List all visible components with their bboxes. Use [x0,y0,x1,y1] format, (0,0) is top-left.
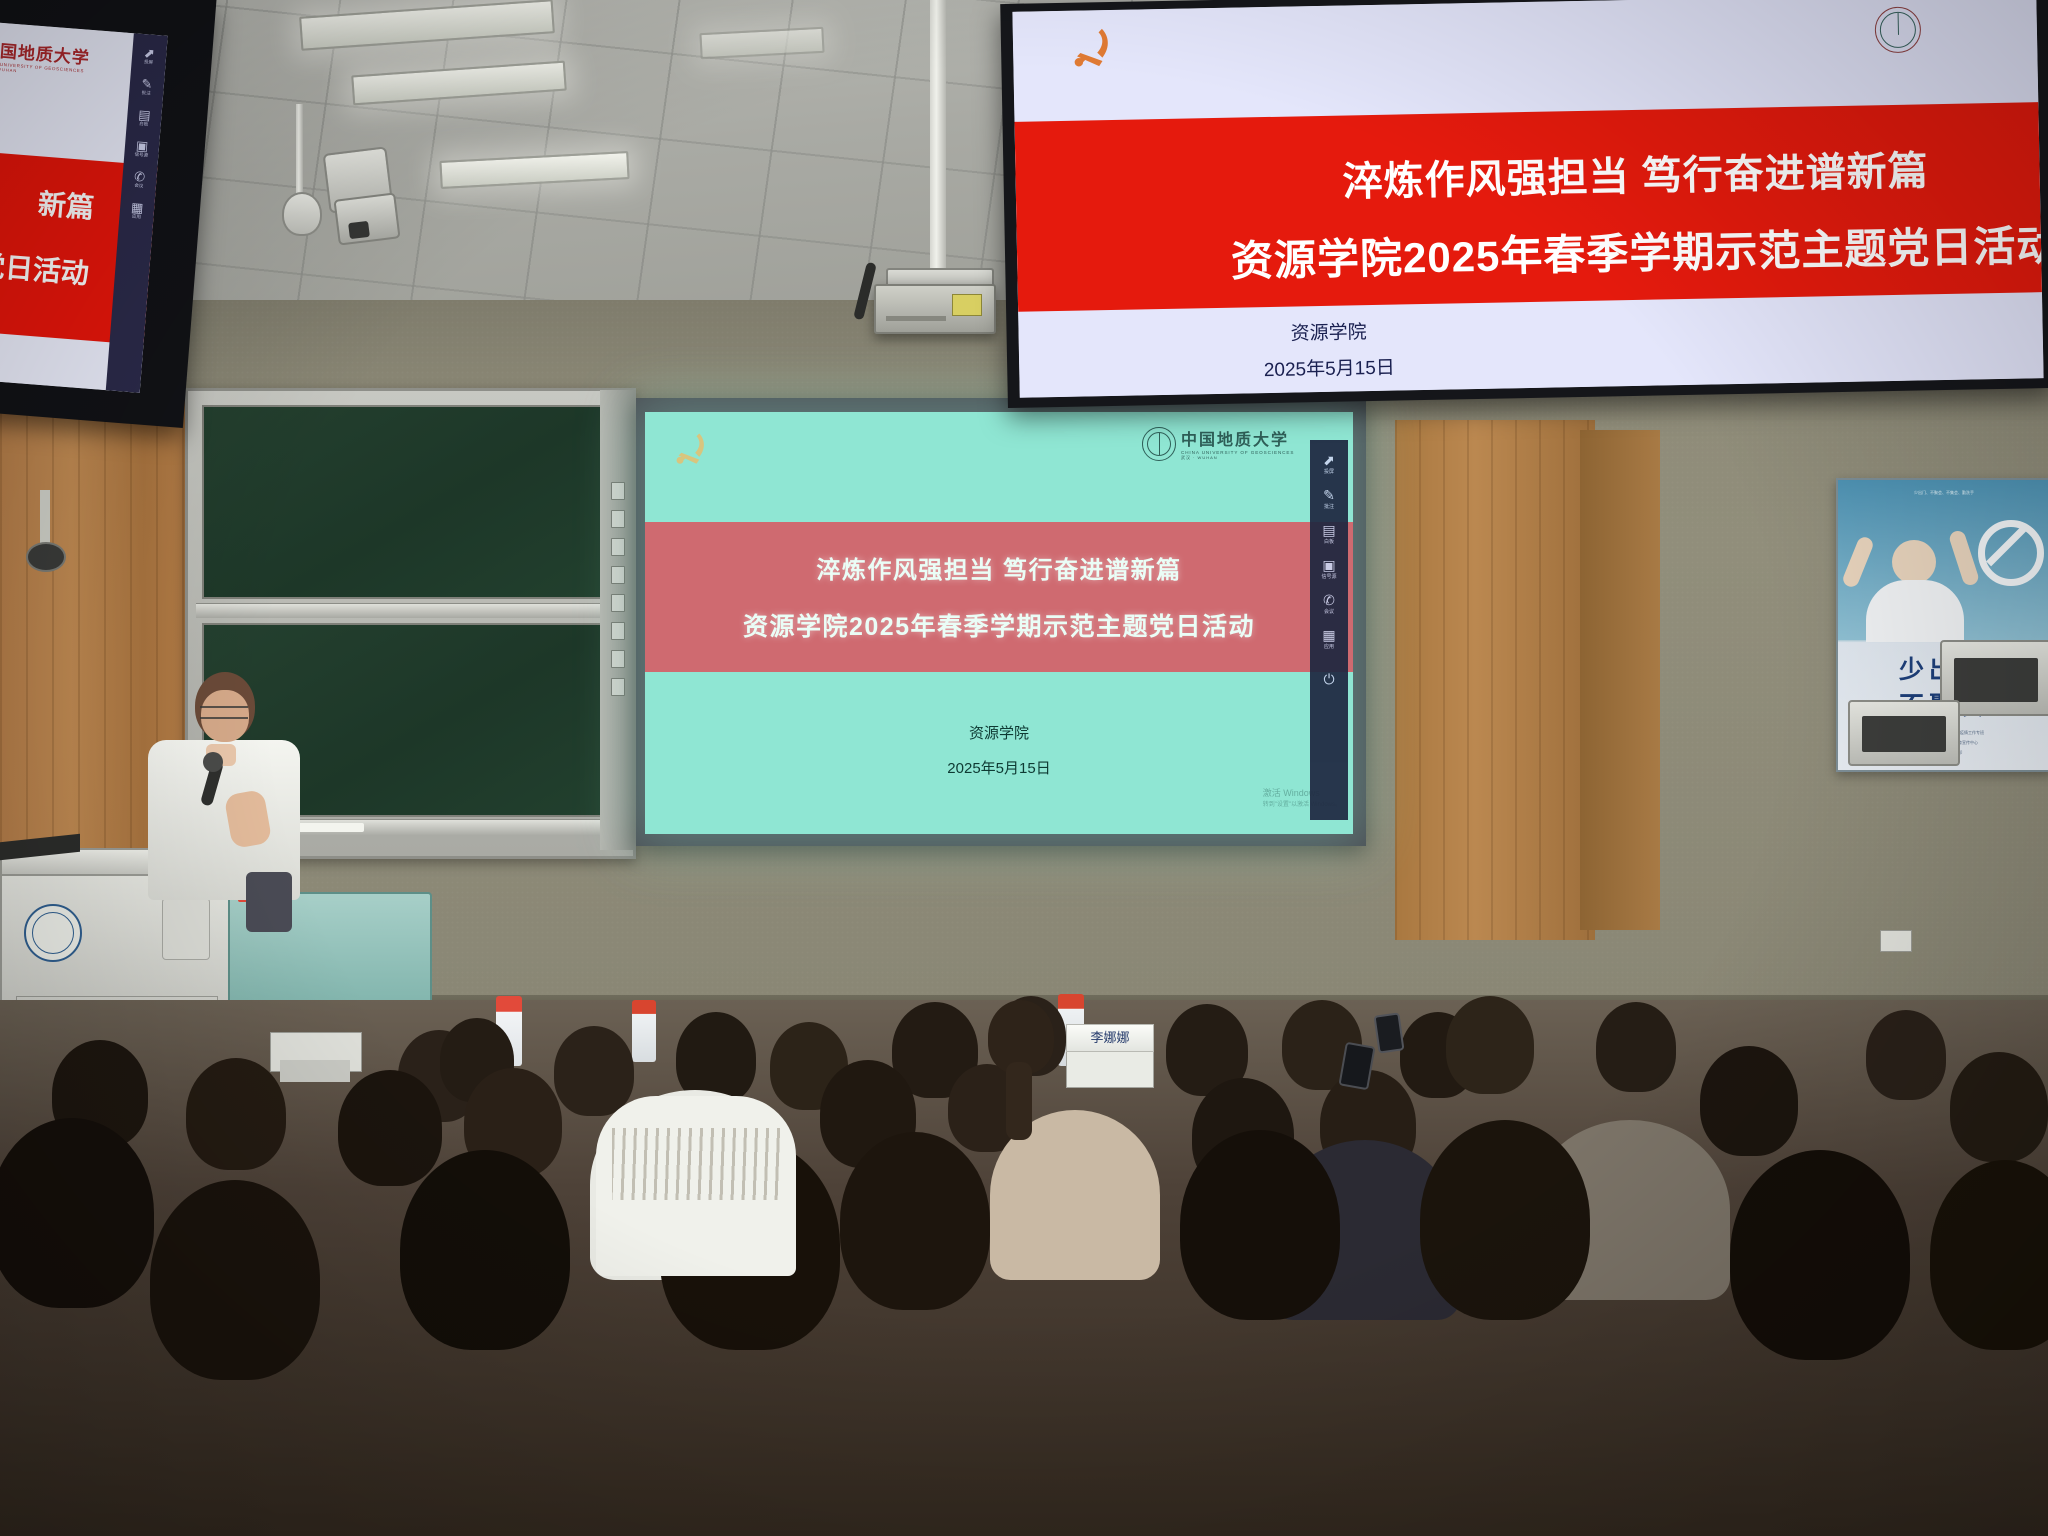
apps-icon: ▦ [120,200,155,216]
chalkboard-control-strip [600,390,634,850]
sidebar-item-whiteboard[interactable]: ▤ 白板 [127,107,162,129]
slide-footer-date: 2025年5月15日 [645,757,1353,778]
board-button[interactable] [611,482,625,500]
board-button[interactable] [611,538,625,556]
podium-university-seal-icon [24,904,82,962]
projector-vent [886,316,946,321]
projection-screen[interactable]: 中国地质大学 CHINA UNIVERSITY OF GEOSCIENCES 武… [645,412,1353,834]
ceiling-device-lens [348,221,370,239]
audience-head [554,1026,634,1116]
audience-head-front [400,1150,570,1350]
slide-title-line1: 淬炼作风强担当 笃行奋进谱新篇 [645,550,1353,585]
ac-vent [1862,716,1946,752]
screen-sidebar-toolbar[interactable]: ⬈ 投屏 ✎ 批注 ▤ 白板 ▣ 信号源 ✆ 会议 ▦ 应用 ⏻ [1310,440,1348,820]
university-logo: 中国地质大学 CHINA UNIVERSITY OF GEOSCIENCES 武… [1142,426,1294,461]
university-logo: 中国地质大学 CHINA UNIVERSITY OF GEOSCIENCES 武… [0,35,103,80]
board-button[interactable] [611,594,625,612]
audience-head [338,1070,442,1186]
projector-pole [930,0,946,272]
poster-header-note: 少出门、不聚会、不集会、勤洗手 [1848,490,2040,496]
board-button[interactable] [611,622,625,640]
university-seal-icon [1874,6,1921,53]
board-button[interactable] [611,678,625,696]
audience-head [1700,1046,1798,1156]
projector-label [952,294,982,316]
name-placard: 李娜娜 [1066,1024,1154,1052]
sidebar-label: 信号源 [134,152,148,158]
audience-head [186,1058,286,1170]
university-campus: 武汉 · WUHAN [1181,455,1294,461]
ceiling-device-body [333,192,400,245]
pencil-icon: ✎ [1310,488,1348,503]
pencil-icon: ✎ [129,76,164,92]
sidebar-label: 投屏 [144,59,153,65]
sidebar-item-apps[interactable]: ▦ 应用 [1310,628,1348,650]
power-icon: ⏻ [1310,672,1348,687]
wood-panel-right-grain [1395,420,1595,940]
audience-head-front [840,1132,990,1310]
phone-icon: ✆ [1310,593,1348,608]
water-bottle[interactable] [632,1000,656,1062]
sidebar-item-power[interactable]: ⏻ [1310,672,1348,687]
phone-icon: ✆ [122,169,157,185]
apps-icon: ▦ [1310,628,1348,643]
wall-ac-unit [1848,700,1960,766]
sidebar-item-annotate[interactable]: ✎ 批注 [129,76,164,98]
share-icon: ⬈ [1310,453,1348,468]
ceiling-speaker [282,192,322,236]
audience-head [1950,1052,2048,1162]
ac-vent [1954,658,2038,702]
presenter-glasses-icon [200,706,248,719]
slide-footer-org: 资源学院 [645,722,1353,743]
microphone-head [203,752,223,772]
sidebar-item-annotate[interactable]: ✎ 批注 [1310,488,1348,510]
tv-footer-org: 资源学院 [1018,312,1638,351]
whiteboard-icon: ▤ [127,107,162,123]
tv-title-band: 淬炼作风强担当 笃行奋进谱新篇 资源学院2025年春季学期示范主题党日活动 [1015,102,2042,312]
board-button[interactable] [611,650,625,668]
sidebar-item-signal-source[interactable]: ▣ 信号源 [124,138,159,160]
eraser[interactable] [298,823,364,832]
ceiling-projector [874,284,996,334]
smartphone[interactable] [1373,1012,1404,1053]
sidebar-item-apps[interactable]: ▦ 应用 [119,200,154,222]
slide-title-line2: 资源学院2025年春季学期示范主题党日活动 [645,607,1353,643]
poster-figure-head [1892,540,1936,584]
slide-title-band: 淬炼作风强担当 笃行奋进谱新篇 资源学院2025年春季学期示范主题党日活动 [645,522,1353,672]
presenter-trousers [246,872,292,932]
poster-figure-arm [1948,529,1981,587]
camera-mount [40,490,50,550]
sidebar-item-meeting[interactable]: ✆ 会议 [122,169,157,191]
wall-camera [26,542,66,572]
sidebar-label: 投屏 [1324,469,1334,475]
sidebar-item-share[interactable]: ⬈ 投屏 [1310,453,1348,475]
prohibition-icon [1978,520,2044,586]
sidebar-label: 应用 [132,214,141,220]
sidebar-label: 白板 [1324,539,1334,545]
university-logo [1874,6,1921,53]
sidebar-label: 会议 [134,183,143,189]
tv-display-right[interactable]: 淬炼作风强担当 笃行奋进谱新篇 资源学院2025年春季学期示范主题党日活动 资源… [1012,0,2043,398]
tv-display-left[interactable]: 中国地质大学 CHINA UNIVERSITY OF GEOSCIENCES 武… [0,21,168,393]
audience-head-front [1180,1130,1340,1320]
sidebar-label: 白板 [139,121,148,127]
poster-figure-arm [1841,535,1875,589]
board-button[interactable] [611,510,625,528]
audience-head [1446,996,1534,1094]
poster-figure-body [1866,580,1964,642]
sidebar-label: 会议 [1324,609,1334,615]
sidebar-item-share[interactable]: ⬈ 投屏 [131,45,166,67]
university-name-cn: 中国地质大学 [1181,426,1294,450]
tv-left-title-fragment1: 新篇 [0,177,96,227]
party-emblem-hammer-sickle-icon [1065,22,1120,77]
university-seal-icon [1142,427,1176,461]
speaker-rod [296,104,303,194]
chalkboard-panel-upper [202,405,614,599]
audience-head-front [1730,1150,1910,1360]
wall-outlet[interactable] [1880,930,1912,952]
wood-panel-far-right [1580,430,1660,930]
share-icon: ⬈ [132,45,167,61]
tv-right-slide: 淬炼作风强担当 笃行奋进谱新篇 资源学院2025年春季学期示范主题党日活动 资源… [1012,0,2043,398]
sidebar-item-signal-source[interactable]: ▣ 信号源 [1310,558,1348,580]
tv-title-line2: 资源学院2025年春季学期示范主题党日活动 [1045,208,2044,292]
sidebar-item-whiteboard[interactable]: ▤ 白板 [1310,523,1348,545]
audience-head-front [0,1118,154,1308]
signal-source-icon: ▣ [1310,558,1348,573]
sidebar-item-meeting[interactable]: ✆ 会议 [1310,593,1348,615]
audience-ponytail [1006,1062,1032,1140]
podium-speaker-grille [162,898,210,960]
signal-source-icon: ▣ [125,138,160,154]
sidebar-label: 批注 [1324,504,1334,510]
desk-surface [280,1060,350,1082]
whiteboard-icon: ▤ [1310,523,1348,538]
audience-head [1866,1010,1946,1100]
sidebar-label: 应用 [1324,644,1334,650]
chalkboard-rail [196,603,620,618]
party-emblem-hammer-sickle-icon [669,428,713,472]
sidebar-label: 批注 [142,90,151,96]
tv-title-line1: 淬炼作风强担当 笃行奋进谱新篇 [1085,133,2043,212]
audience-head-front [1420,1120,1590,1320]
lecture-hall-photo: 中国地质大学 CHINA UNIVERSITY OF GEOSCIENCES 武… [0,0,2048,1536]
board-button[interactable] [611,566,625,584]
audience-head [1596,1002,1676,1092]
poster-image: 少出门、不聚会、不集会、勤洗手 [1838,480,2048,640]
audience-head-front [150,1180,320,1380]
tv-footer-date: 2025年5月15日 [1019,348,1639,387]
presentation-slide: 中国地质大学 CHINA UNIVERSITY OF GEOSCIENCES 武… [645,412,1353,834]
sidebar-label: 信号源 [1321,574,1336,580]
shirt-print-graphic [612,1128,780,1200]
tv-left-slide: 中国地质大学 CHINA UNIVERSITY OF GEOSCIENCES 武… [0,21,168,393]
name-placard-text: 李娜娜 [1067,1025,1153,1051]
tv-left-title-fragment2: 党日活动 [0,242,91,292]
